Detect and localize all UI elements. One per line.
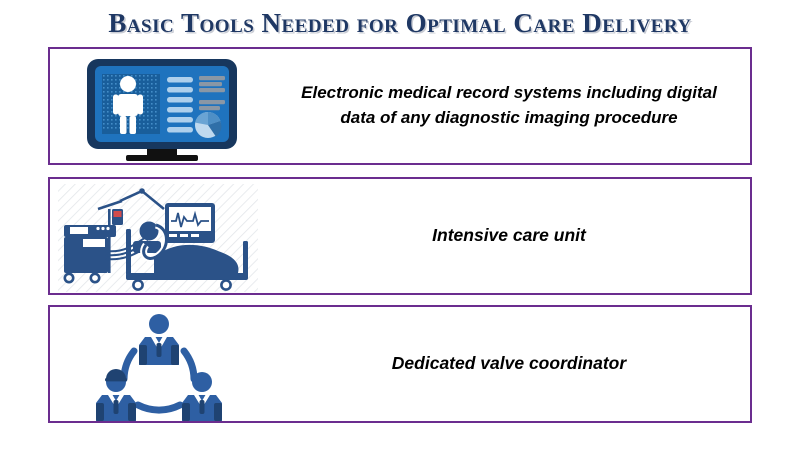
panel-icu-text: Intensive care unit (268, 223, 750, 248)
panel-emr: Electronic medical record systems includ… (48, 47, 752, 165)
panel-coordinator: Dedicated valve coordinator (48, 305, 752, 423)
emr-monitor-icon (50, 49, 268, 163)
panel-icu: Intensive care unit (48, 177, 752, 295)
panel-coordinator-text: Dedicated valve coordinator (268, 351, 750, 376)
team-coordination-icon (50, 307, 268, 421)
panel-emr-text: Electronic medical record systems includ… (268, 81, 750, 130)
intensive-care-bed-icon (50, 179, 268, 293)
page-title: Basic Tools Needed for Optimal Care Deli… (0, 8, 800, 39)
